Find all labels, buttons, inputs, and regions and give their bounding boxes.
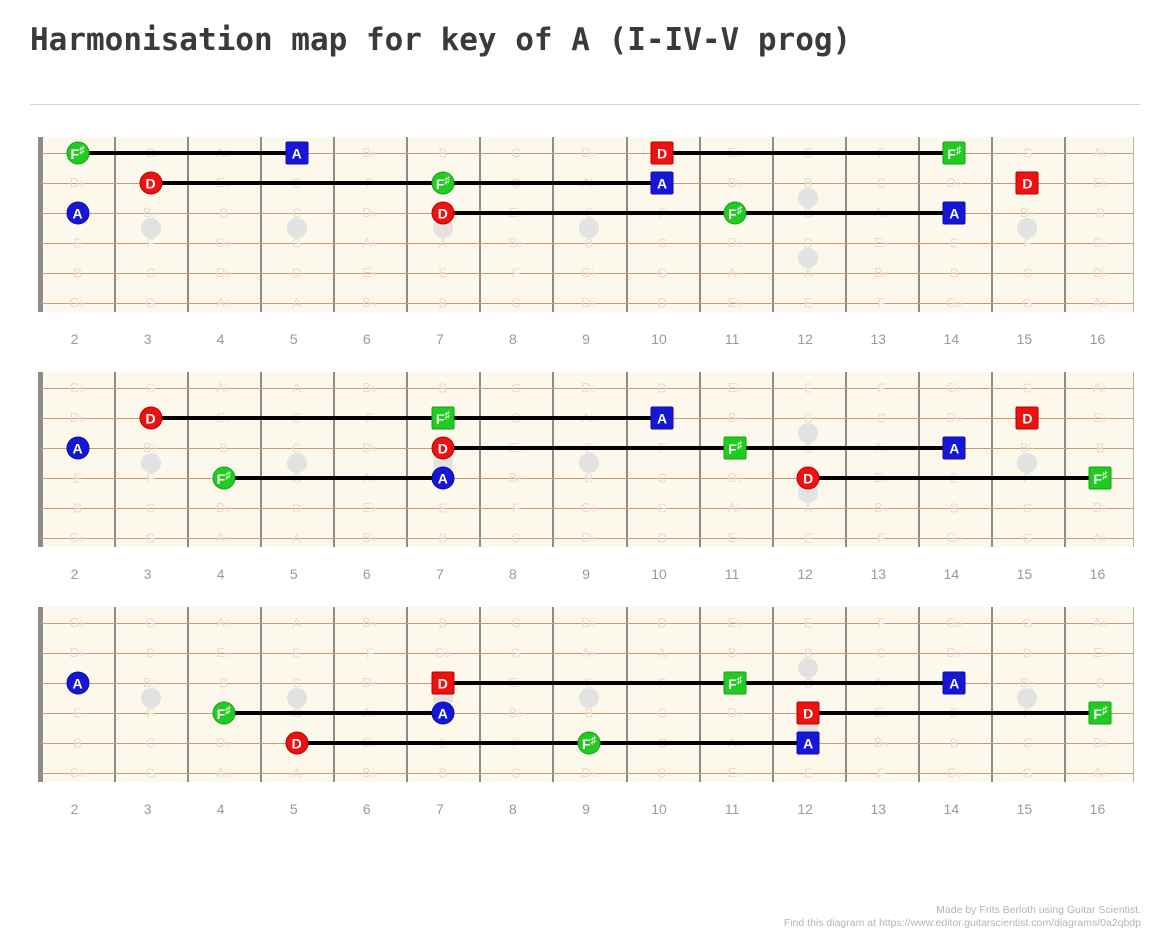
note-marker-d[interactable]: D	[1016, 407, 1039, 430]
note-label: G	[146, 296, 156, 311]
note-marker-a[interactable]: A	[651, 407, 674, 430]
fret-number: 7	[436, 566, 444, 582]
note-label: B	[439, 296, 448, 311]
note-label: C	[146, 736, 155, 751]
fret-number: 11	[725, 331, 740, 347]
note-marker-label: F♯	[947, 145, 961, 161]
note-connector-line	[443, 446, 954, 450]
fret-number: 7	[436, 331, 444, 347]
note-label: G♭	[69, 530, 85, 546]
fret-line-3	[114, 372, 116, 547]
note-marker-fsharp[interactable]: F♯	[1089, 702, 1112, 725]
fretboard-surface: G♭GA♭AB♭BCD♭DE♭EFG♭GA♭D♭DE♭EFG♭GA♭AB♭BCD…	[41, 372, 1133, 547]
note-label: B♭	[509, 235, 524, 251]
note-marker-a[interactable]: A	[943, 672, 966, 695]
note-label: A	[658, 646, 667, 661]
note-connector-line	[808, 711, 1100, 715]
note-marker-label: A	[657, 176, 667, 190]
note-connector-line	[151, 181, 662, 185]
fret-number: 5	[290, 331, 298, 347]
note-marker-label: F♯	[582, 735, 596, 751]
note-marker-label: D	[803, 471, 813, 485]
fret-line-11	[699, 137, 701, 312]
note-label: D♭	[216, 500, 232, 516]
fret-number: 12	[797, 801, 813, 817]
fret-line-4	[187, 137, 189, 312]
fret-line-5	[260, 137, 262, 312]
note-label: A♭	[216, 295, 231, 311]
fret-number: 4	[217, 801, 225, 817]
fret-number: 11	[725, 566, 740, 582]
note-label: B	[439, 616, 448, 631]
fret-number: 5	[290, 566, 298, 582]
note-label: B♭	[143, 440, 158, 456]
note-label: A	[292, 296, 301, 311]
note-label: A	[804, 266, 813, 281]
note-label: E♭	[728, 530, 743, 546]
note-label: F	[147, 706, 155, 721]
note-label: E	[804, 616, 813, 631]
note-marker-fsharp[interactable]: F♯	[431, 172, 454, 195]
fret-number: 15	[1017, 566, 1033, 582]
note-label: D	[657, 766, 666, 781]
fret-line-14	[918, 137, 920, 312]
note-marker-label: D	[146, 411, 156, 425]
note-label: G	[657, 266, 667, 281]
fret-number: 4	[217, 331, 225, 347]
fret-line-6	[333, 607, 335, 782]
note-label: D	[657, 531, 666, 546]
footer-link: Find this diagram at https://www.editor.…	[784, 917, 1141, 929]
note-label: B♭	[362, 530, 377, 546]
note-connector-line	[151, 416, 662, 420]
fret-number: 2	[71, 566, 79, 582]
note-marker-a[interactable]: A	[66, 672, 89, 695]
note-label: B♭	[362, 295, 377, 311]
note-marker-a[interactable]: A	[943, 202, 966, 225]
note-label: C	[1023, 736, 1032, 751]
note-label: B♭	[1020, 205, 1035, 221]
note-label: B♭	[728, 175, 743, 191]
fretboard-3[interactable]: G♭GA♭AB♭BCD♭DE♭EFG♭GA♭D♭DE♭EFG♭GA♭AB♭BCD…	[38, 607, 1134, 782]
note-label: G♭	[581, 500, 597, 516]
note-label: A♭	[1093, 295, 1108, 311]
note-marker-label: A	[657, 411, 667, 425]
note-marker-label: D	[803, 706, 813, 720]
fret-line-10	[626, 137, 628, 312]
note-marker-fsharp[interactable]: F♯	[431, 407, 454, 430]
note-label: C	[511, 531, 520, 546]
fret-number: 10	[651, 801, 667, 817]
note-label: B♭	[362, 615, 377, 631]
note-label: F	[877, 381, 885, 396]
fret-number: 5	[290, 801, 298, 817]
note-marker-label: D	[438, 676, 448, 690]
fret-number: 13	[870, 331, 886, 347]
fret-number: 3	[144, 566, 152, 582]
note-label: C	[657, 471, 666, 486]
fret-number: 6	[363, 331, 371, 347]
note-marker-d[interactable]: D	[139, 172, 162, 195]
note-label: C	[146, 501, 155, 516]
note-label: A♭	[728, 265, 743, 281]
note-label: B♭	[509, 705, 524, 721]
fret-number: 8	[509, 331, 517, 347]
fret-line-9	[552, 137, 554, 312]
note-marker-a[interactable]: A	[285, 142, 308, 165]
fret-line-9	[552, 372, 554, 547]
note-label: E♭	[728, 615, 743, 631]
note-marker-fsharp[interactable]: F♯	[943, 142, 966, 165]
note-label: G♭	[69, 615, 85, 631]
fret-number: 9	[582, 801, 590, 817]
note-marker-a[interactable]: A	[66, 437, 89, 460]
note-label: B♭	[728, 410, 743, 426]
note-label: D♭	[581, 295, 597, 311]
note-label: F	[1023, 236, 1031, 251]
fret-number: 15	[1017, 801, 1033, 817]
note-marker-a[interactable]: A	[651, 172, 674, 195]
note-label: D	[292, 501, 301, 516]
note-label: F	[877, 616, 885, 631]
note-label: E	[804, 531, 813, 546]
note-marker-label: A	[949, 676, 959, 690]
note-label: G♭	[946, 530, 962, 546]
note-label: A	[804, 501, 813, 516]
note-label: D	[1023, 646, 1032, 661]
note-marker-label: D	[438, 441, 448, 455]
fret-line-13	[845, 607, 847, 782]
note-marker-label: F♯	[436, 410, 450, 426]
note-label: E	[950, 236, 959, 251]
note-marker-label: F♯	[217, 470, 231, 486]
note-label: B♭	[874, 500, 889, 516]
note-label: G	[292, 236, 302, 251]
note-connector-line	[78, 151, 297, 155]
note-label: B♭	[143, 675, 158, 691]
note-label: F	[147, 236, 155, 251]
note-label: A♭	[1093, 145, 1108, 161]
note-label: G♭	[216, 235, 232, 251]
note-label: D♭	[947, 645, 963, 661]
note-marker-label: D	[1022, 176, 1032, 190]
note-label: E	[439, 501, 448, 516]
fret-number: 7	[436, 801, 444, 817]
note-marker-a[interactable]: A	[431, 702, 454, 725]
note-marker-d[interactable]: D	[1016, 172, 1039, 195]
fret-line-7	[406, 372, 408, 547]
note-label: E♭	[1093, 645, 1108, 661]
fret-number: 6	[363, 566, 371, 582]
note-label: D♭	[727, 705, 743, 721]
note-label: A♭	[1093, 530, 1108, 546]
fretboard-surface: G♭GA♭AB♭BCD♭DE♭EFG♭GA♭D♭DE♭EFG♭GA♭AB♭BCD…	[41, 607, 1133, 782]
note-marker-a[interactable]: A	[66, 202, 89, 225]
note-label: G♭	[946, 295, 962, 311]
note-marker-d[interactable]: D	[139, 407, 162, 430]
note-label: B	[1096, 206, 1105, 221]
note-marker-label: F♯	[71, 145, 85, 161]
fret-line-14	[918, 372, 920, 547]
note-label: B	[439, 766, 448, 781]
note-label: B	[804, 176, 813, 191]
note-label: B	[950, 736, 959, 751]
note-label: D	[657, 381, 666, 396]
note-connector-line	[443, 211, 954, 215]
fret-line-10	[626, 607, 628, 782]
note-label: B♭	[874, 265, 889, 281]
note-label: D♭	[581, 615, 597, 631]
note-label: A♭	[362, 235, 377, 251]
note-marker-label: A	[438, 706, 448, 720]
note-marker-a[interactable]: A	[431, 467, 454, 490]
note-marker-d[interactable]: D	[431, 672, 454, 695]
note-label: D♭	[1093, 500, 1109, 516]
fret-number: 8	[509, 566, 517, 582]
note-label: A	[292, 531, 301, 546]
fretboard-surface: G♭GA♭AB♭BCD♭DE♭EFG♭GA♭D♭DE♭EFG♭GA♭AB♭BCD…	[41, 137, 1133, 312]
note-marker-label: A	[292, 146, 302, 160]
note-label: E♭	[362, 265, 377, 281]
note-label: A♭	[1093, 615, 1108, 631]
note-label: G	[1022, 616, 1032, 631]
note-label: G	[1022, 381, 1032, 396]
fret-number: 14	[944, 331, 960, 347]
note-label: G♭	[69, 295, 85, 311]
note-label: B	[73, 736, 82, 751]
note-label: D♭	[216, 265, 232, 281]
fret-line-16	[1064, 137, 1066, 312]
note-label: D♭	[70, 175, 86, 191]
note-label: A♭	[216, 765, 231, 781]
fret-number: 16	[1090, 566, 1106, 582]
fret-number: 12	[797, 566, 813, 582]
fret-line-2	[41, 372, 43, 547]
note-label: A	[292, 381, 301, 396]
note-label: C	[511, 766, 520, 781]
note-label: E	[804, 296, 813, 311]
note-marker-label: F♯	[217, 705, 231, 721]
fretboard-1[interactable]: G♭GA♭AB♭BCD♭DE♭EFG♭GA♭D♭DE♭EFG♭GA♭AB♭BCD…	[38, 137, 1134, 312]
fret-line-5	[260, 372, 262, 547]
note-label: F	[512, 501, 520, 516]
note-marker-label: A	[949, 206, 959, 220]
note-label: F	[512, 266, 520, 281]
note-marker-fsharp[interactable]: F♯	[578, 732, 601, 755]
note-marker-label: D	[146, 176, 156, 190]
note-label: D♭	[947, 175, 963, 191]
note-label: D	[657, 296, 666, 311]
note-label: B	[219, 206, 228, 221]
fret-line-5	[260, 607, 262, 782]
note-connector-line	[224, 476, 443, 480]
note-label: B	[439, 531, 448, 546]
note-label: B	[585, 706, 594, 721]
fret-line-6	[333, 137, 335, 312]
note-label: B	[585, 471, 594, 486]
note-marker-d[interactable]: D	[285, 732, 308, 755]
fret-line-16	[1064, 607, 1066, 782]
note-label: D♭	[1093, 265, 1109, 281]
note-label: C	[877, 646, 886, 661]
note-marker-fsharp[interactable]: F♯	[724, 672, 747, 695]
note-label: G♭	[946, 615, 962, 631]
fret-line-14	[918, 607, 920, 782]
note-label: A♭	[216, 380, 231, 396]
note-label: E♭	[362, 500, 377, 516]
note-marker-label: F♯	[436, 175, 450, 191]
fret-line-15	[991, 372, 993, 547]
fret-line-6	[333, 372, 335, 547]
note-label: E♭	[728, 765, 743, 781]
note-label: E♭	[728, 380, 743, 396]
fret-number: 15	[1017, 331, 1033, 347]
note-label: B♭	[874, 735, 889, 751]
note-label: E	[804, 766, 813, 781]
fret-line-4	[187, 372, 189, 547]
fret-number: 16	[1090, 331, 1106, 347]
note-label: D♭	[216, 735, 232, 751]
fret-number: 2	[71, 801, 79, 817]
fret-line-8	[479, 372, 481, 547]
note-label: E♭	[1093, 175, 1108, 191]
note-label: F	[877, 296, 885, 311]
fret-line-13	[845, 137, 847, 312]
fret-line-13	[845, 372, 847, 547]
note-marker-label: D	[438, 206, 448, 220]
title-divider	[30, 104, 1141, 105]
note-marker-d[interactable]: D	[431, 437, 454, 460]
note-label: G♭	[946, 765, 962, 781]
note-label: B	[1096, 441, 1105, 456]
note-label: A	[292, 616, 301, 631]
note-label: D♭	[947, 410, 963, 426]
note-connector-line	[662, 151, 954, 155]
note-marker-a[interactable]: A	[797, 732, 820, 755]
note-label: B♭	[728, 645, 743, 661]
note-label: A♭	[216, 530, 231, 546]
note-label: C	[657, 236, 666, 251]
fret-number: 6	[363, 801, 371, 817]
note-label: G♭	[946, 380, 962, 396]
note-marker-label: F♯	[1093, 470, 1107, 486]
note-marker-fsharp[interactable]: F♯	[212, 702, 235, 725]
fret-line-4	[187, 607, 189, 782]
note-label: B	[439, 146, 448, 161]
note-label: D♭	[727, 470, 743, 486]
note-label: B♭	[143, 205, 158, 221]
note-label: B♭	[362, 765, 377, 781]
fret-number: 2	[71, 331, 79, 347]
fret-line-8	[479, 137, 481, 312]
fret-number: 10	[651, 331, 667, 347]
note-marker-a[interactable]: A	[943, 437, 966, 460]
note-label: F	[147, 471, 155, 486]
fret-number: 13	[870, 801, 886, 817]
fret-line-3	[114, 137, 116, 312]
note-marker-fsharp[interactable]: F♯	[212, 467, 235, 490]
note-marker-label: F♯	[728, 205, 742, 221]
fret-line-12	[772, 137, 774, 312]
note-marker-fsharp[interactable]: F♯	[724, 202, 747, 225]
note-label: C	[146, 266, 155, 281]
note-label: C	[292, 441, 301, 456]
note-marker-fsharp[interactable]: F♯	[724, 437, 747, 460]
note-label: C	[511, 146, 520, 161]
note-label: D♭	[727, 235, 743, 251]
footer-credit: Made by Frits Berloth using Guitar Scien…	[936, 904, 1141, 916]
note-label: B	[219, 676, 228, 691]
note-marker-fsharp[interactable]: F♯	[66, 142, 89, 165]
note-label: B	[219, 441, 228, 456]
note-label: C	[511, 296, 520, 311]
note-label: C	[877, 176, 886, 191]
note-label: A♭	[1093, 765, 1108, 781]
note-marker-label: A	[72, 441, 82, 455]
note-label: G	[1022, 296, 1032, 311]
note-marker-d[interactable]: D	[651, 142, 674, 165]
fret-number: 9	[582, 566, 590, 582]
fret-line-16	[1064, 372, 1066, 547]
fret-line-2	[41, 137, 43, 312]
note-label: G	[146, 531, 156, 546]
fret-number: 4	[217, 566, 225, 582]
note-label: F	[366, 646, 374, 661]
note-label: D♭	[362, 205, 378, 221]
note-marker-label: F♯	[728, 440, 742, 456]
note-connector-line	[297, 741, 808, 745]
note-label: D	[146, 646, 155, 661]
note-label: D♭	[581, 765, 597, 781]
note-label: D♭	[581, 145, 597, 161]
note-label: A	[292, 766, 301, 781]
fret-number: 13	[870, 566, 886, 582]
note-marker-d[interactable]: D	[797, 702, 820, 725]
fret-line-11	[699, 607, 701, 782]
note-label: B	[439, 381, 448, 396]
note-marker-fsharp[interactable]: F♯	[1089, 467, 1112, 490]
fret-line-2	[41, 607, 43, 782]
note-label: G	[146, 616, 156, 631]
note-label: E♭	[1093, 410, 1108, 426]
note-label: C	[292, 206, 301, 221]
fret-number-axis-2: 2345678910111213141516	[38, 566, 1134, 590]
note-marker-d[interactable]: D	[797, 467, 820, 490]
fret-line-12	[772, 372, 774, 547]
note-label: G	[657, 501, 667, 516]
note-label: B♭	[1020, 440, 1035, 456]
note-label: D♭	[70, 410, 86, 426]
note-marker-label: F♯	[728, 675, 742, 691]
note-label: D	[803, 236, 812, 251]
fret-line-15	[991, 137, 993, 312]
note-marker-d[interactable]: D	[431, 202, 454, 225]
note-marker-label: A	[949, 441, 959, 455]
note-label: B	[73, 501, 82, 516]
fret-line-8	[479, 607, 481, 782]
note-label: G	[146, 766, 156, 781]
note-label: A♭	[1093, 380, 1108, 396]
note-label: B	[950, 266, 959, 281]
fretboard-2[interactable]: G♭GA♭AB♭BCD♭DE♭EFG♭GA♭D♭DE♭EFG♭GA♭AB♭BCD…	[38, 372, 1134, 547]
fret-line-7	[406, 137, 408, 312]
note-label: B♭	[509, 470, 524, 486]
note-label: B	[1096, 676, 1105, 691]
note-label: E	[439, 266, 448, 281]
note-label: E♭	[874, 235, 889, 251]
note-label: C	[1023, 501, 1032, 516]
note-label: A♭	[728, 500, 743, 516]
